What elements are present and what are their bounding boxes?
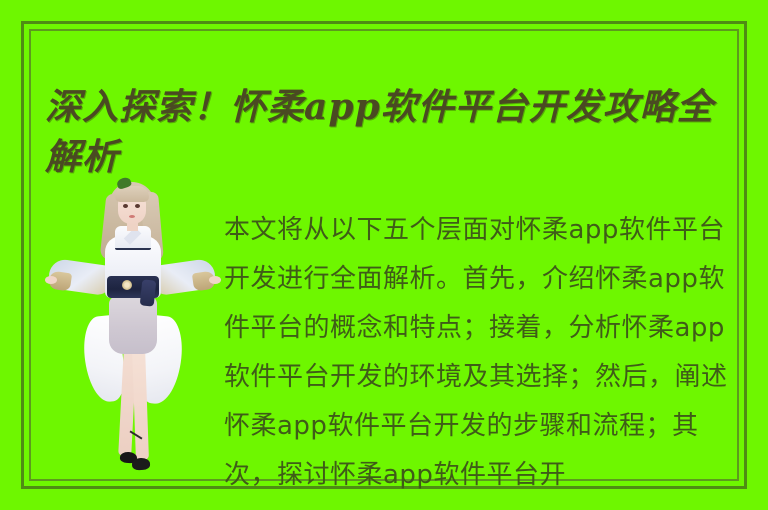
- obi-knot: [140, 279, 157, 306]
- lips: [129, 215, 135, 218]
- eye-left: [123, 204, 128, 208]
- hand-left: [45, 276, 57, 284]
- eye-right: [135, 204, 140, 208]
- obi-flower-ornament: [122, 280, 132, 290]
- hand-right: [209, 276, 221, 284]
- page-title: 深入探索！怀柔app软件平台开发攻略全解析: [45, 82, 735, 182]
- character-illustration: [33, 176, 229, 486]
- article-page: 深入探索！怀柔app软件平台开发攻略全解析 本文将从以下五个层面对怀柔app软件: [0, 0, 768, 510]
- shoe-right: [132, 458, 151, 471]
- article-body: 本文将从以下五个层面对怀柔app软件平台开发进行全面解析。首先，介绍怀柔app软…: [224, 206, 736, 500]
